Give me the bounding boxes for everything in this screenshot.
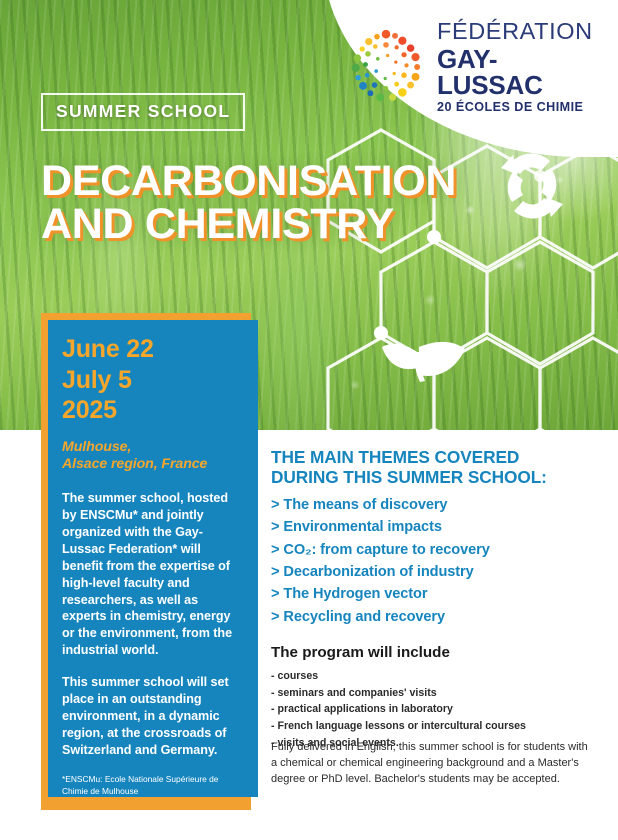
date-start: June 22	[62, 334, 243, 365]
location-region: Alsace region, France	[62, 456, 243, 474]
program-item: - courses	[271, 668, 601, 685]
location-city: Mulhouse,	[62, 439, 243, 457]
info-panel: June 22 July 5 2025 Mulhouse, Alsace reg…	[48, 320, 258, 797]
theme-item: > Environmental impacts	[271, 516, 606, 538]
panel-paragraph-1: The summer school, hosted by ENSCMu* and…	[62, 490, 243, 659]
program-item: - French language lessons or intercultur…	[271, 718, 601, 735]
leaf-icon	[382, 342, 465, 382]
theme-item: > Recycling and recovery	[271, 606, 606, 628]
date-year: 2025	[62, 395, 243, 426]
title-line-1: DECARBONISATION	[41, 157, 456, 205]
gay-lussac-dots-logo	[345, 26, 427, 108]
title-line-2: AND CHEMISTRY	[41, 203, 511, 246]
theme-item: > The Hydrogen vector	[271, 583, 606, 605]
panel-paragraph-2: This summer school will set place in an …	[62, 674, 243, 758]
program-item: - seminars and companies' visits	[271, 685, 601, 702]
dates-block: June 22 July 5 2025	[62, 334, 243, 426]
program-heading: The program will include	[271, 644, 450, 661]
themes-heading-line-2: DURING THIS SUMMER SCHOOL:	[271, 467, 601, 487]
logo-line-ecoles: 20 ÉCOLES DE CHIMIE	[437, 101, 595, 114]
themes-heading-line-1: THE MAIN THEMES COVERED	[271, 447, 601, 467]
theme-item: > Decarbonization of industry	[271, 561, 606, 583]
location-block: Mulhouse, Alsace region, France	[62, 439, 243, 475]
date-end: July 5	[62, 365, 243, 396]
theme-item: > CO₂: from capture to recovery	[271, 539, 606, 561]
themes-list: > The means of discovery > Environmental…	[271, 494, 606, 628]
themes-heading: THE MAIN THEMES COVERED DURING THIS SUMM…	[271, 447, 601, 487]
molecule-node	[374, 326, 388, 340]
footnote-gay-lussac: * Gay-Lussac Federation: the French netw…	[62, 808, 243, 840]
poster-canvas: FÉDÉRATION GAY-LUSSAC 20 ÉCOLES DE CHIMI…	[0, 0, 618, 840]
summer-school-badge: SUMMER SCHOOL	[41, 93, 245, 131]
footnote-enscmu: *ENSCMu: Ecole Nationale Supérieure de C…	[62, 774, 243, 796]
logo-line-gay-lussac: GAY-LUSSAC	[437, 46, 595, 98]
closing-paragraph: Fully delivered in English, this summer …	[271, 740, 591, 787]
program-item: - practical applications in laboratory	[271, 701, 601, 718]
theme-item: > The means of discovery	[271, 494, 606, 516]
federation-logo: FÉDÉRATION GAY-LUSSAC 20 ÉCOLES DE CHIMI…	[345, 24, 595, 110]
page-title: DECARBONISATION AND CHEMISTRY	[41, 160, 511, 245]
logo-line-federation: FÉDÉRATION	[437, 20, 595, 44]
